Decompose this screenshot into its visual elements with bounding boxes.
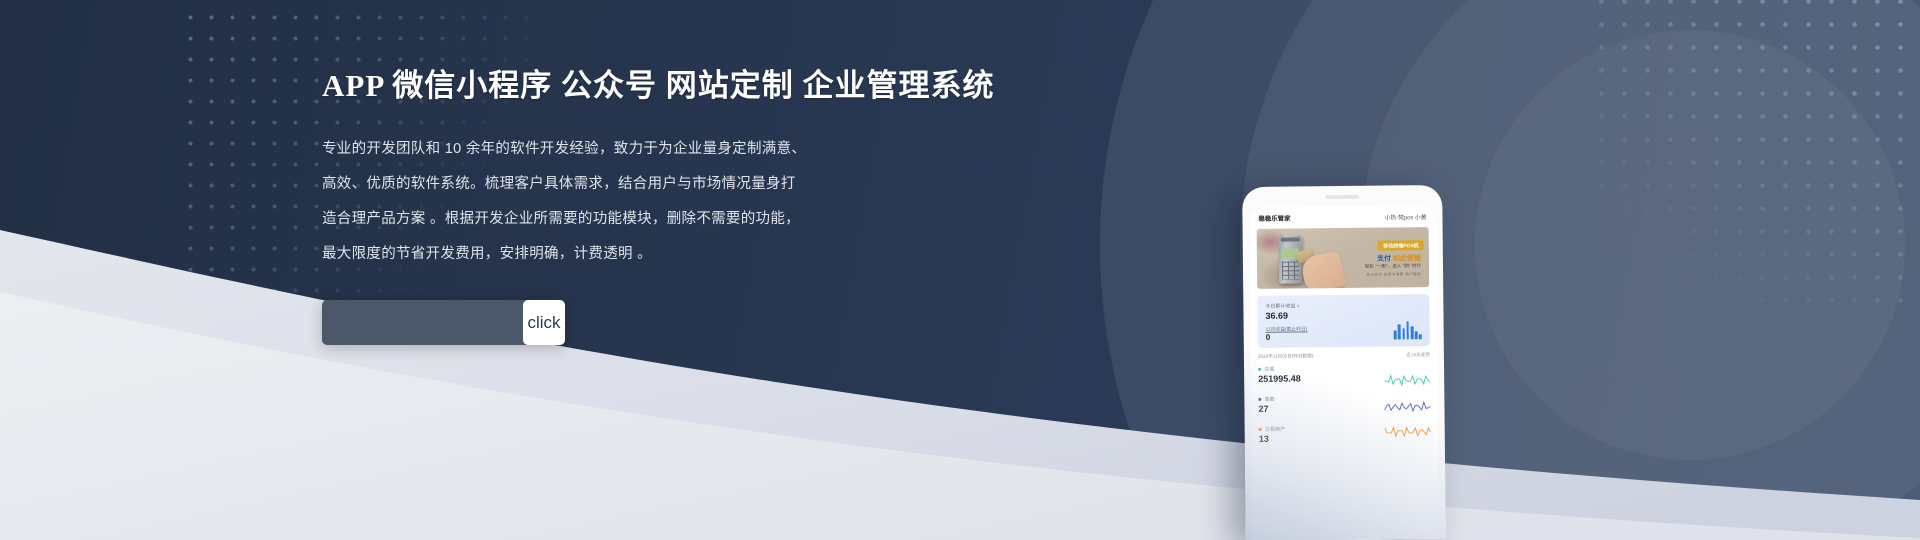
click-button[interactable]: click (523, 300, 565, 345)
banner-tag: 移动终端POS机 (1378, 240, 1424, 251)
app-promo-banner[interactable]: 移动终端POS机 支付 如此便捷 轻松 "一刷"，进入 "刷" 时代 无卡支付 … (1257, 227, 1430, 289)
stat-value: 13 (1259, 434, 1286, 444)
hero-banner: APP 微信小程序 公众号 网站定制 企业管理系统 专业的开发团队和 10 余年… (0, 0, 1920, 540)
app-account: 小热-梵pos 小黄 (1385, 212, 1427, 221)
stat-sparkline (1384, 394, 1430, 418)
phone-mockup: 稳稳乐管家 小热-梵pos 小黄 移动终端POS机 支付 如此便捷 轻松 "一刷… (1242, 185, 1446, 540)
stats-trend-label: 近15天走势 (1406, 352, 1430, 358)
stat-row[interactable]: 交易商户13 (1259, 424, 1431, 450)
stat-value: 27 (1258, 404, 1275, 414)
stats-header: 2020年11月05日(昨日数据) 近15天走势 (1258, 352, 1430, 360)
stat-name: 交易 (1258, 365, 1301, 372)
banner-title: 支付 如此便捷 (1377, 253, 1421, 263)
stat-label: 交易 (1264, 366, 1274, 373)
app-brand: 稳稳乐管家 (1258, 214, 1290, 223)
page-title: APP 微信小程序 公众号 网站定制 企业管理系统 (322, 60, 1042, 105)
phone-speaker (1325, 195, 1359, 199)
earnings-bar (1402, 328, 1405, 339)
stat-label: 笔数 (1265, 396, 1275, 403)
stats-section: 2020年11月05日(昨日数据) 近15天走势 交易251995.48笔数27… (1258, 352, 1431, 450)
banner-footnote: 无卡支付 信用卡消费 商户服务 (1366, 272, 1421, 278)
stat-row[interactable]: 交易251995.48 (1258, 364, 1430, 390)
stat-sparkline (1385, 424, 1431, 448)
stat-label: 交易商户 (1265, 426, 1285, 433)
banner-title-primary: 支付 (1377, 256, 1391, 263)
stats-rows: 交易251995.48笔数27交易商户13 (1258, 364, 1431, 450)
description-line-1: 专业的开发团队和 10 余年的软件开发经验，致力于为企业量身定制满意、 (322, 132, 1042, 167)
earnings-bar (1411, 326, 1414, 339)
earnings-bar (1419, 334, 1422, 339)
earnings-bar-chart (1394, 319, 1422, 339)
stat-sparkline (1384, 364, 1430, 388)
earnings-card[interactable]: 今日累计收益 > 36.69 11月收益(截止昨日) 0 (1257, 294, 1430, 348)
stat-color-dot (1258, 368, 1261, 371)
earnings-bar (1415, 331, 1418, 339)
earnings-bar (1406, 321, 1409, 339)
stat-name: 笔数 (1258, 396, 1274, 403)
hero-description: 专业的开发团队和 10 余年的软件开发经验，致力于为企业量身定制满意、 高效、优… (322, 132, 1042, 272)
earnings-bar (1398, 324, 1401, 339)
stat-color-dot (1259, 428, 1262, 431)
app-header: 稳稳乐管家 小热-梵pos 小黄 (1249, 205, 1435, 229)
stat-row[interactable]: 笔数27 (1258, 394, 1430, 420)
hero-content: APP 微信小程序 公众号 网站定制 企业管理系统 专业的开发团队和 10 余年… (322, 60, 1042, 345)
stats-date-label: 2020年11月05日(昨日数据) (1258, 353, 1313, 360)
description-line-2: 高效、优质的软件系统。梳理客户具体需求，结合用户与市场情况量身打 (322, 167, 1042, 202)
stat-value: 251995.48 (1258, 373, 1301, 383)
description-line-3: 造合理产品方案 。根据开发企业所需要的功能模块，删除不需要的功能， (322, 202, 1042, 237)
cta-group: click (322, 300, 565, 345)
earnings-bar (1394, 330, 1397, 339)
cta-input[interactable] (322, 300, 527, 345)
description-line-4: 最大限度的节省开发费用，安排明确，计费透明 。 (322, 237, 1042, 272)
phone-screen: 稳稳乐管家 小热-梵pos 小黄 移动终端POS机 支付 如此便捷 轻松 "一刷… (1249, 205, 1439, 540)
banner-subtitle: 轻松 "一刷"，进入 "刷" 时代 (1365, 263, 1421, 270)
stat-color-dot (1258, 398, 1261, 401)
banner-title-secondary: 如此便捷 (1393, 255, 1421, 262)
stat-name: 交易商户 (1259, 426, 1285, 433)
